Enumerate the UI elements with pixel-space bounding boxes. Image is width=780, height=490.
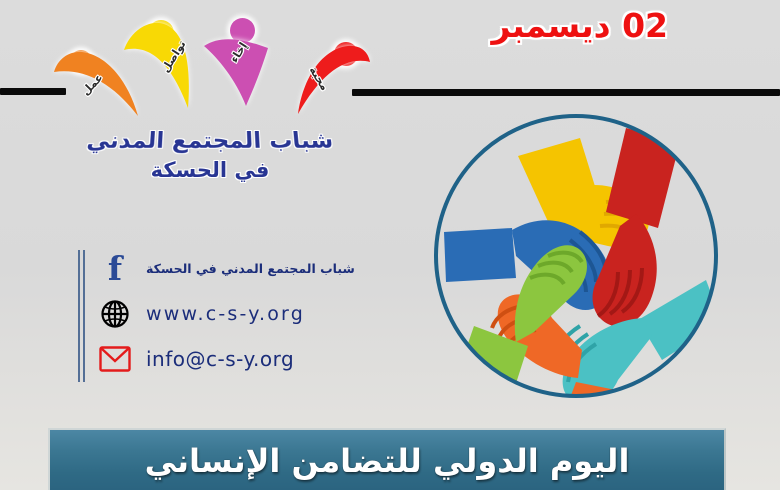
logo-people-group: عمل تواصل إخاء محبة	[52, 8, 362, 120]
bottom-banner: اليوم الدولي للتضامن الإنساني	[48, 428, 726, 490]
envelope-icon	[98, 342, 132, 376]
globe-icon	[98, 297, 132, 331]
contact-row-email[interactable]: info@c-s-y.org	[98, 336, 388, 381]
email-address: info@c-s-y.org	[146, 347, 294, 371]
facebook-icon: f	[98, 252, 132, 286]
person-figure-red: محبة	[274, 42, 384, 118]
contact-row-facebook[interactable]: f شباب المجتمع المدني في الحسكة	[98, 246, 388, 291]
facebook-page-name: شباب المجتمع المدني في الحسكة	[146, 261, 357, 276]
poster-canvas: 20 ديسمبر عمل تواصل إخاء	[0, 0, 780, 490]
logo-wordmark: شباب المجتمع المدني في الحسكة	[60, 128, 360, 182]
six-hands-circle-icon	[430, 110, 722, 402]
contact-list: f شباب المجتمع المدني في الحسكة www.c-s-…	[98, 246, 388, 381]
contact-row-website[interactable]: www.c-s-y.org	[98, 291, 388, 336]
wordmark-line-1: شباب المجتمع المدني	[58, 129, 362, 154]
event-date: 20 ديسمبر	[492, 6, 668, 45]
divider-rule-right	[352, 89, 780, 96]
contact-accent-rails	[78, 250, 86, 382]
website-url: www.c-s-y.org	[146, 303, 305, 325]
person-body-red	[274, 42, 384, 118]
banner-title: اليوم الدولي للتضامن الإنساني	[145, 442, 630, 480]
wordmark-line-2: في الحسكة	[60, 158, 360, 182]
